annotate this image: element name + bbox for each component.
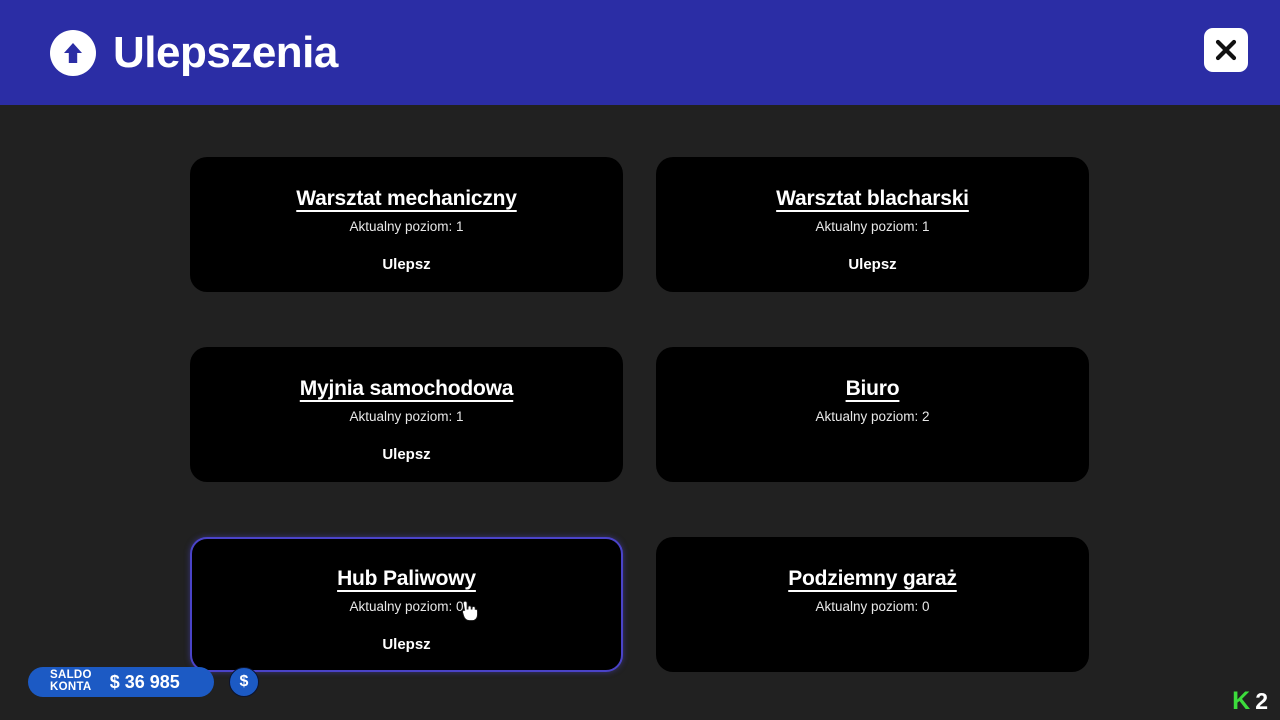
upgrade-card[interactable]: Warsztat blacharskiAktualny poziom: 1Ule… [656, 157, 1089, 292]
upgrades-grid: Warsztat mechanicznyAktualny poziom: 1Ul… [190, 157, 1090, 672]
upgrade-card[interactable]: Podziemny garażAktualny poziom: 0 [656, 537, 1089, 672]
arrow-up-circle-icon [50, 30, 96, 76]
upgrade-card[interactable]: Myjnia samochodowaAktualny poziom: 1Ulep… [190, 347, 623, 482]
upgrade-card-level: Aktualny poziom: 0 [815, 600, 929, 614]
upgrade-card-title: Hub Paliwowy [337, 567, 476, 590]
upgrade-card[interactable]: Warsztat mechanicznyAktualny poziom: 1Ul… [190, 157, 623, 292]
balance-amount: $ 36 985 [110, 673, 180, 691]
close-icon[interactable] [1204, 28, 1248, 72]
upgrade-card-level: Aktualny poziom: 1 [349, 410, 463, 424]
upgrade-card[interactable]: BiuroAktualny poziom: 2 [656, 347, 1089, 482]
upgrade-card-title: Podziemny garaż [788, 567, 957, 590]
upgrade-card-title: Biuro [846, 377, 900, 400]
watermark-logo-icon: K [1232, 689, 1250, 714]
account-balance-widget: SALDO KONTA $ 36 985 $ [28, 667, 214, 697]
upgrade-card-level: Aktualny poziom: 2 [815, 410, 929, 424]
header-bar: Ulepszenia [0, 0, 1280, 105]
upgrade-card-title: Warsztat blacharski [776, 187, 969, 210]
upgrade-button[interactable]: Ulepsz [192, 447, 621, 462]
upgrade-card[interactable]: Hub PaliwowyAktualny poziom: 0Ulepsz [190, 537, 623, 672]
balance-pill: SALDO KONTA $ 36 985 [28, 667, 214, 697]
upgrade-card-title: Warsztat mechaniczny [296, 187, 516, 210]
watermark: K 2 [1232, 689, 1268, 714]
watermark-number: 2 [1255, 690, 1268, 713]
header-title-group: Ulepszenia [50, 0, 338, 105]
upgrade-button[interactable]: Ulepsz [658, 257, 1087, 272]
upgrade-card-level: Aktualny poziom: 1 [815, 220, 929, 234]
upgrade-button[interactable]: Ulepsz [192, 257, 621, 272]
upgrade-card-level: Aktualny poziom: 0 [349, 600, 463, 614]
dollar-coin-icon: $ [229, 667, 259, 697]
page-title: Ulepszenia [113, 31, 338, 75]
upgrade-card-level: Aktualny poziom: 1 [349, 220, 463, 234]
upgrade-card-title: Myjnia samochodowa [300, 377, 513, 400]
balance-label: SALDO KONTA [50, 670, 92, 693]
upgrade-button[interactable]: Ulepsz [192, 637, 621, 652]
